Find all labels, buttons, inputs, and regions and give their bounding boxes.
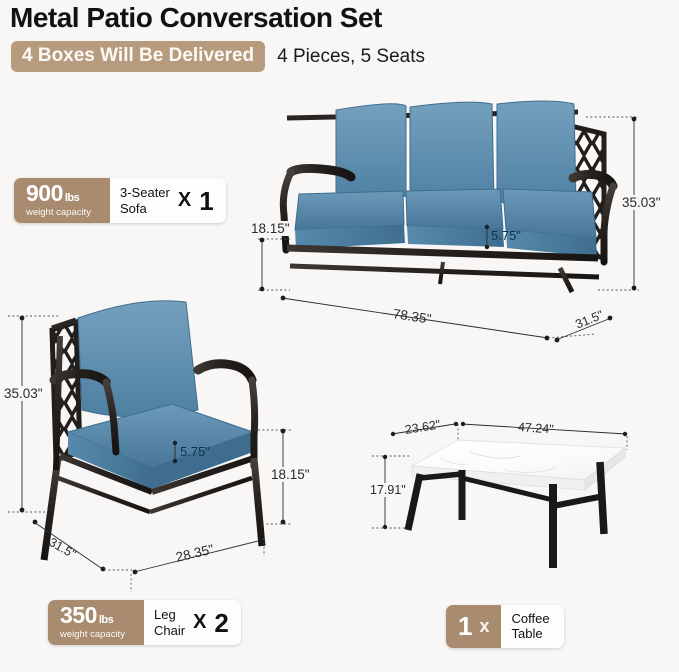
chair-cushion-thickness-label: 5.75" <box>180 444 210 459</box>
table-name-block: Coffee Table <box>501 605 563 648</box>
sofa-seat-height-label: 18.15" <box>249 221 292 236</box>
infographic-canvas: Metal Patio Conversation Set 4 Boxes Wil… <box>0 0 679 672</box>
table-quantity-block: 1 x <box>446 605 501 648</box>
sofa-multiply-sign: X <box>178 189 191 212</box>
table-quantity: 1 <box>458 613 472 639</box>
table-multiply-sign: x <box>479 617 489 635</box>
chair-multiply-sign: X <box>193 611 206 634</box>
sofa-capacity-number: 900lbs <box>26 182 100 205</box>
chair-back-cushion <box>78 301 198 417</box>
chair-seat-cushion <box>68 404 253 489</box>
chair-item-name: Leg Chair <box>154 607 185 638</box>
sofa-item-name: 3-Seater Sofa <box>120 185 170 216</box>
chair-capacity-badge: 350lbs weight capacity Leg Chair X 2 <box>48 600 241 645</box>
chair-weight-capacity: 350lbs weight capacity <box>48 600 144 645</box>
product-illustrations <box>0 0 679 672</box>
sofa-cushion-thickness-label: 5.75" <box>491 228 521 243</box>
chair-capacity-number: 350lbs <box>60 604 134 627</box>
sofa-weight-capacity: 900lbs weight capacity <box>14 178 110 223</box>
sofa-quantity: 1 <box>199 188 213 214</box>
chair-quantity: 2 <box>214 610 228 636</box>
sofa-back-height-label: 35.03" <box>620 195 663 210</box>
coffee-table-illustration <box>408 440 625 568</box>
sofa-capacity-caption: weight capacity <box>26 207 100 218</box>
sofa-illustration <box>283 101 613 300</box>
table-item-name: Coffee Table <box>511 611 549 642</box>
coffee-table-badge: 1 x Coffee Table <box>446 605 564 648</box>
chair-item-block: Leg Chair X 2 <box>144 600 241 645</box>
chair-illustration <box>44 301 262 574</box>
sofa-capacity-badge: 900lbs weight capacity 3-Seater Sofa X 1 <box>14 178 226 223</box>
table-height-label: 17.91" <box>368 483 408 497</box>
chair-back-height-label: 35.03" <box>2 386 45 401</box>
chair-seat-height-label: 18.15" <box>269 467 312 482</box>
chair-capacity-caption: weight capacity <box>60 629 134 640</box>
table-width-label: 47.24" <box>518 420 555 436</box>
sofa-item-block: 3-Seater Sofa X 1 <box>110 178 226 223</box>
